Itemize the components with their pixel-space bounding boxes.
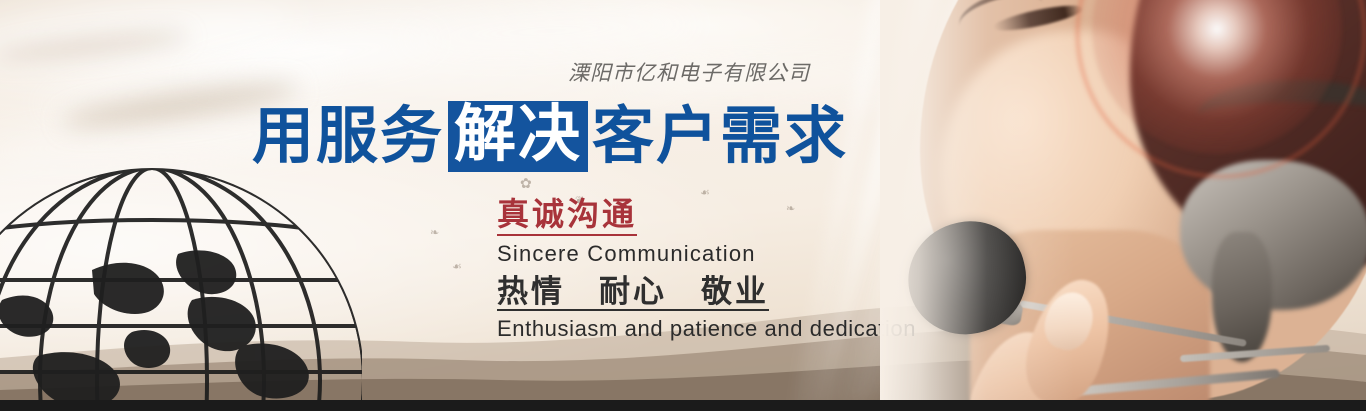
slogan-line2-cn: 热情 耐心 敬业 — [497, 276, 769, 312]
wireframe-globe-icon — [0, 150, 362, 400]
headline: 用服务解决客户需求 — [252, 101, 848, 172]
slogan-line1-cn: 真诚沟通 — [497, 198, 637, 236]
company-name: 溧阳市亿和电子有限公司 — [568, 57, 810, 87]
headset-operator-photo — [880, 0, 1366, 400]
bottom-bar — [0, 400, 1366, 411]
bird-speck-icon: ☙ — [452, 262, 462, 273]
photo-edge-fade — [880, 0, 1366, 400]
slogan-line2-wrapper: 热情 耐心 敬业 — [497, 267, 916, 312]
bird-speck-icon: ❧ — [430, 228, 439, 239]
slogan-line1-wrapper: 真诚沟通 — [497, 198, 916, 236]
slogan-line2-en: Enthusiasm and patience and dedication — [497, 316, 916, 342]
headline-suffix: 客户需求 — [592, 106, 848, 168]
promo-banner: ❧ ☙ ✿ ❦ ☙ ❧ — [0, 0, 1366, 411]
slogan-line1-en: Sincere Communication — [497, 241, 916, 267]
headline-highlight: 解决 — [448, 101, 588, 172]
bird-speck-icon: ✿ — [520, 176, 532, 190]
headline-prefix: 用服务 — [252, 106, 444, 168]
slogan-block: 真诚沟通 Sincere Communication 热情 耐心 敬业 Enth… — [497, 198, 916, 342]
